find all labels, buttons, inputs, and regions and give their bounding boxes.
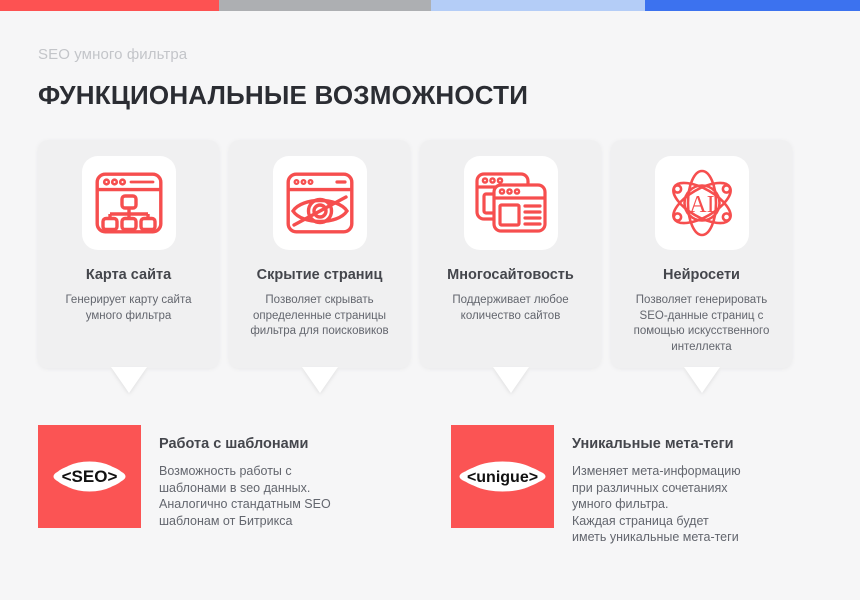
highlight-block-desc: Возможность работы с шаблонами в seo дан… <box>159 463 331 529</box>
highlight-block-list: <SEO> Работа с шаблонами Возможность раб… <box>38 425 828 546</box>
seo-badge-label: <SEO> <box>62 467 118 486</box>
page-title: ФУНКЦИОНАЛЬНЫЕ ВОЗМОЖНОСТИ <box>38 79 860 111</box>
page-header: SEO умного фильтра ФУНКЦИОНАЛЬНЫЕ ВОЗМОЖ… <box>0 11 860 111</box>
feature-card-title: Многосайтовость <box>447 266 574 284</box>
top-color-bar <box>0 0 860 11</box>
card-tail <box>493 367 529 393</box>
highlight-block-desc: Изменяет мета-информацию при различных с… <box>572 463 741 546</box>
sitemap-browser-icon <box>95 172 163 234</box>
icon-tile: AI <box>655 156 749 250</box>
unique-tag-badge: <unigue> <box>451 425 554 528</box>
highlight-block-text: Работа с шаблонами Возможность работы с … <box>141 425 331 529</box>
highlight-block-templates: <SEO> Работа с шаблонами Возможность раб… <box>38 425 415 546</box>
svg-text:AI: AI <box>689 192 714 218</box>
feature-card-list: Карта сайта Генерирует карту сайта умног… <box>38 140 822 368</box>
card-tail <box>111 367 147 393</box>
icon-tile <box>273 156 367 250</box>
ai-atom-icon: AI <box>666 168 738 238</box>
feature-card-desc: Позволяет генерировать SEO-данные страни… <box>634 293 770 355</box>
topbar-segment-gray <box>219 0 431 11</box>
feature-card-sitemap[interactable]: Карта сайта Генерирует карту сайта умног… <box>38 140 219 368</box>
feature-card-desc: Поддерживает любое количество сайтов <box>452 293 568 324</box>
highlight-block-title: Работа с шаблонами <box>159 435 331 454</box>
feature-card-title: Скрытие страниц <box>257 266 383 284</box>
feature-card-neural[interactable]: AI Нейросети Позволяет генерировать SEO-… <box>611 140 792 368</box>
feature-card-title: Нейросети <box>663 266 740 284</box>
card-tail <box>684 367 720 393</box>
icon-tile <box>464 156 558 250</box>
feature-card-desc: Позволяет скрывать определенные страницы… <box>250 293 388 340</box>
multi-window-icon <box>475 172 547 234</box>
highlight-block-text: Уникальные мета-теги Изменяет мета-инфор… <box>554 425 741 546</box>
feature-card-multisite[interactable]: Многосайтовость Поддерживает любое колич… <box>420 140 601 368</box>
highlight-block-meta-tags: <unigue> Уникальные мета-теги Изменяет м… <box>451 425 828 546</box>
highlight-block-title: Уникальные мета-теги <box>572 435 741 454</box>
unique-badge-label: <unigue> <box>467 469 538 486</box>
topbar-segment-red <box>0 0 219 11</box>
topbar-segment-blue <box>645 0 860 11</box>
card-tail <box>302 367 338 393</box>
icon-tile <box>82 156 176 250</box>
page-eyebrow: SEO умного фильтра <box>38 45 860 65</box>
hidden-eye-browser-icon <box>286 172 354 234</box>
topbar-segment-light-blue <box>431 0 645 11</box>
seo-tag-badge: <SEO> <box>38 425 141 528</box>
feature-card-title: Карта сайта <box>86 266 171 284</box>
feature-card-desc: Генерирует карту сайта умного фильтра <box>65 293 191 324</box>
feature-card-hidden-pages[interactable]: Скрытие страниц Позволяет скрывать опред… <box>229 140 410 368</box>
